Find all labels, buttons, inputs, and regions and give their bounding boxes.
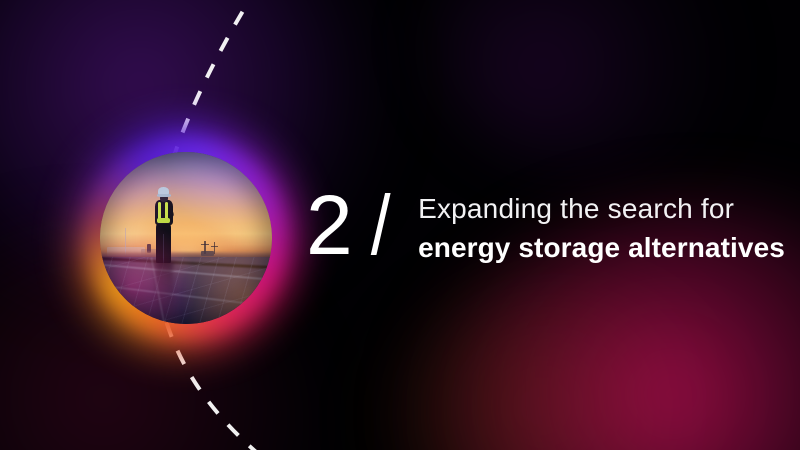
section-divider-slash: /: [370, 182, 390, 268]
page-title-line-2: energy storage alternatives: [418, 231, 785, 265]
section-number: 2: [306, 182, 353, 268]
headline-text-group: Expanding the search for energy storage …: [418, 192, 785, 265]
glow-purple-topright: [430, 0, 750, 170]
glow-amber-bottomright: [390, 280, 770, 450]
circular-photo: [100, 152, 272, 324]
slide-canvas: 2 / Expanding the search for energy stor…: [0, 0, 800, 450]
headline-block: 2 / Expanding the search for energy stor…: [306, 186, 785, 268]
page-title-line-1: Expanding the search for: [418, 192, 785, 226]
photo-vignette: [100, 152, 272, 324]
